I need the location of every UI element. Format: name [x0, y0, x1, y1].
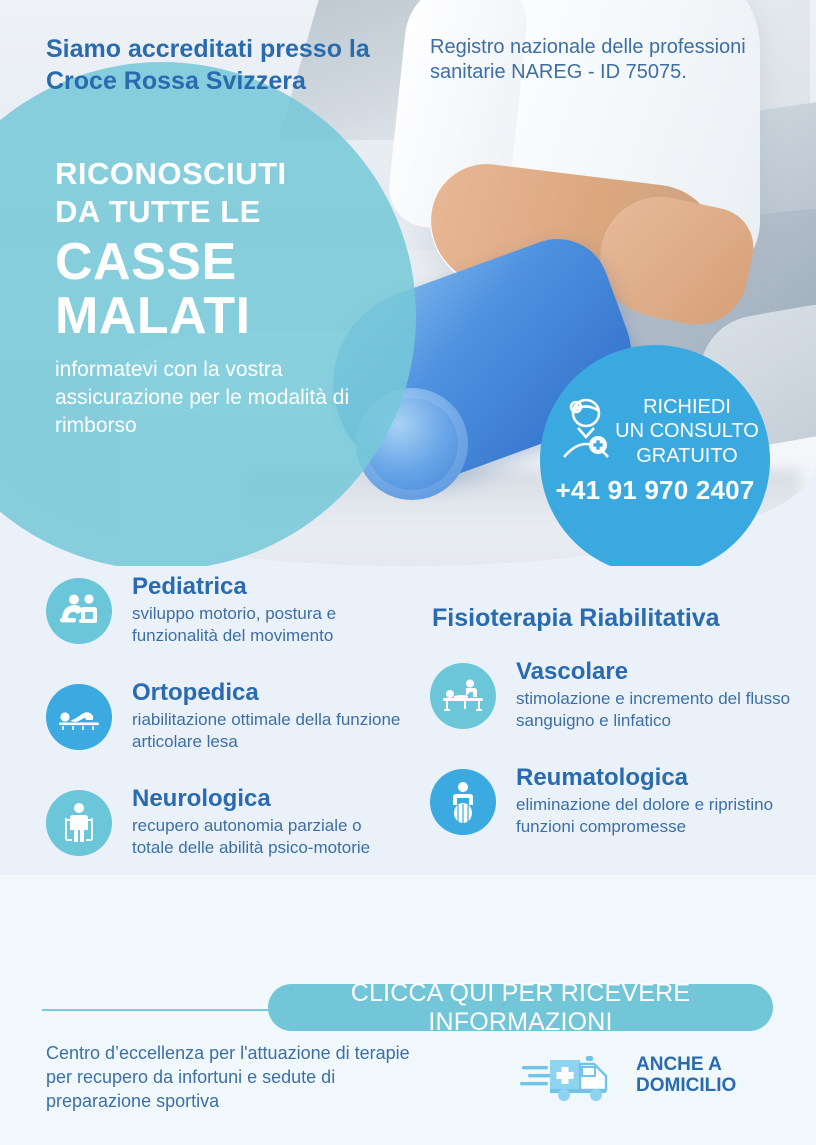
service-item-vascolare[interactable]: Vascolare stimolazione e incremento del …: [430, 659, 796, 751]
orthopedic-patient-icon: [46, 684, 112, 750]
service-item-reumatologica[interactable]: Reumatologica eliminazione del dolore e …: [430, 765, 796, 857]
service-desc: riabilitazione ottimale della funzione a…: [132, 709, 406, 753]
doctor-icon: [560, 397, 616, 459]
services-right-title: Fisioterapia Riabilitativa: [432, 604, 796, 633]
pediatric-therapy-icon: [46, 578, 112, 644]
services-column-left: Pediatrica sviluppo motorio, postura e f…: [46, 574, 406, 892]
walker-patient-icon: [46, 790, 112, 856]
service-desc: eliminazione del dolore e ripristino fun…: [516, 794, 796, 838]
service-name: Pediatrica: [132, 574, 406, 600]
excellence-note: Centro d’eccellenza per l'attuazione di …: [46, 1042, 426, 1113]
service-desc: sviluppo motorio, postura e funzionalità…: [132, 603, 406, 647]
service-desc: recupero autonomia parziale o totale del…: [132, 815, 406, 859]
accreditation-title: Siamo accreditati presso la Croce Rossa …: [46, 33, 396, 97]
service-item-ortopedica[interactable]: Ortopedica riabilitazione ottimale della…: [46, 680, 406, 772]
massage-table-icon: [430, 663, 496, 729]
cta-divider-line: [42, 1009, 287, 1011]
service-name: Vascolare: [516, 659, 796, 685]
ambulance-icon: [520, 1048, 624, 1102]
person-pain-icon: [430, 769, 496, 835]
home-service-text: ANCHE A DOMICILIO: [636, 1054, 736, 1097]
hero-line-1: RICONOSCIUTI: [55, 155, 415, 193]
consultation-line-3: GRATUITO: [612, 444, 762, 468]
services-column-right: Fisioterapia Riabilitativa: [430, 604, 796, 871]
consultation-line-1: RICHIEDI: [612, 395, 762, 419]
phone-number[interactable]: +41 91 970 2407: [540, 475, 770, 506]
poster: RICONOSCIUTI DA TUTTE LE CASSE MALATI in…: [0, 0, 816, 1145]
cta-button[interactable]: CLICCA QUI PER RICEVERE INFORMAZIONI: [268, 984, 773, 1031]
hero-copy: RICONOSCIUTI DA TUTTE LE CASSE MALATI in…: [55, 155, 415, 440]
service-name: Neurologica: [132, 786, 406, 812]
hero-subtitle: informatevi con la vostra assicurazione …: [55, 356, 415, 440]
service-item-neurologica[interactable]: Neurologica recupero autonomia parziale …: [46, 786, 406, 878]
home-service-line-2: DOMICILIO: [636, 1075, 736, 1096]
hero-line-4: MALATI: [55, 289, 415, 344]
home-service-badge: ANCHE A DOMICILIO: [520, 1044, 750, 1106]
registry-note: Registro nazionale delle professioni san…: [430, 35, 796, 85]
service-name: Reumatologica: [516, 765, 796, 791]
hero-line-2: DA TUTTE LE: [55, 193, 415, 231]
service-name: Ortopedica: [132, 680, 406, 706]
service-desc: stimolazione e incremento del flusso san…: [516, 688, 796, 732]
home-service-line-1: ANCHE A: [636, 1054, 736, 1075]
consultation-line-2: UN CONSULTO: [612, 419, 762, 443]
free-consultation-badge[interactable]: RICHIEDI UN CONSULTO GRATUITO +41 91 970…: [540, 345, 770, 566]
services-section: Pediatrica sviluppo motorio, postura e f…: [0, 566, 816, 875]
hero-line-3: CASSE: [55, 235, 415, 290]
consultation-text: RICHIEDI UN CONSULTO GRATUITO: [612, 395, 762, 468]
service-item-pediatrica[interactable]: Pediatrica sviluppo motorio, postura e f…: [46, 574, 406, 666]
